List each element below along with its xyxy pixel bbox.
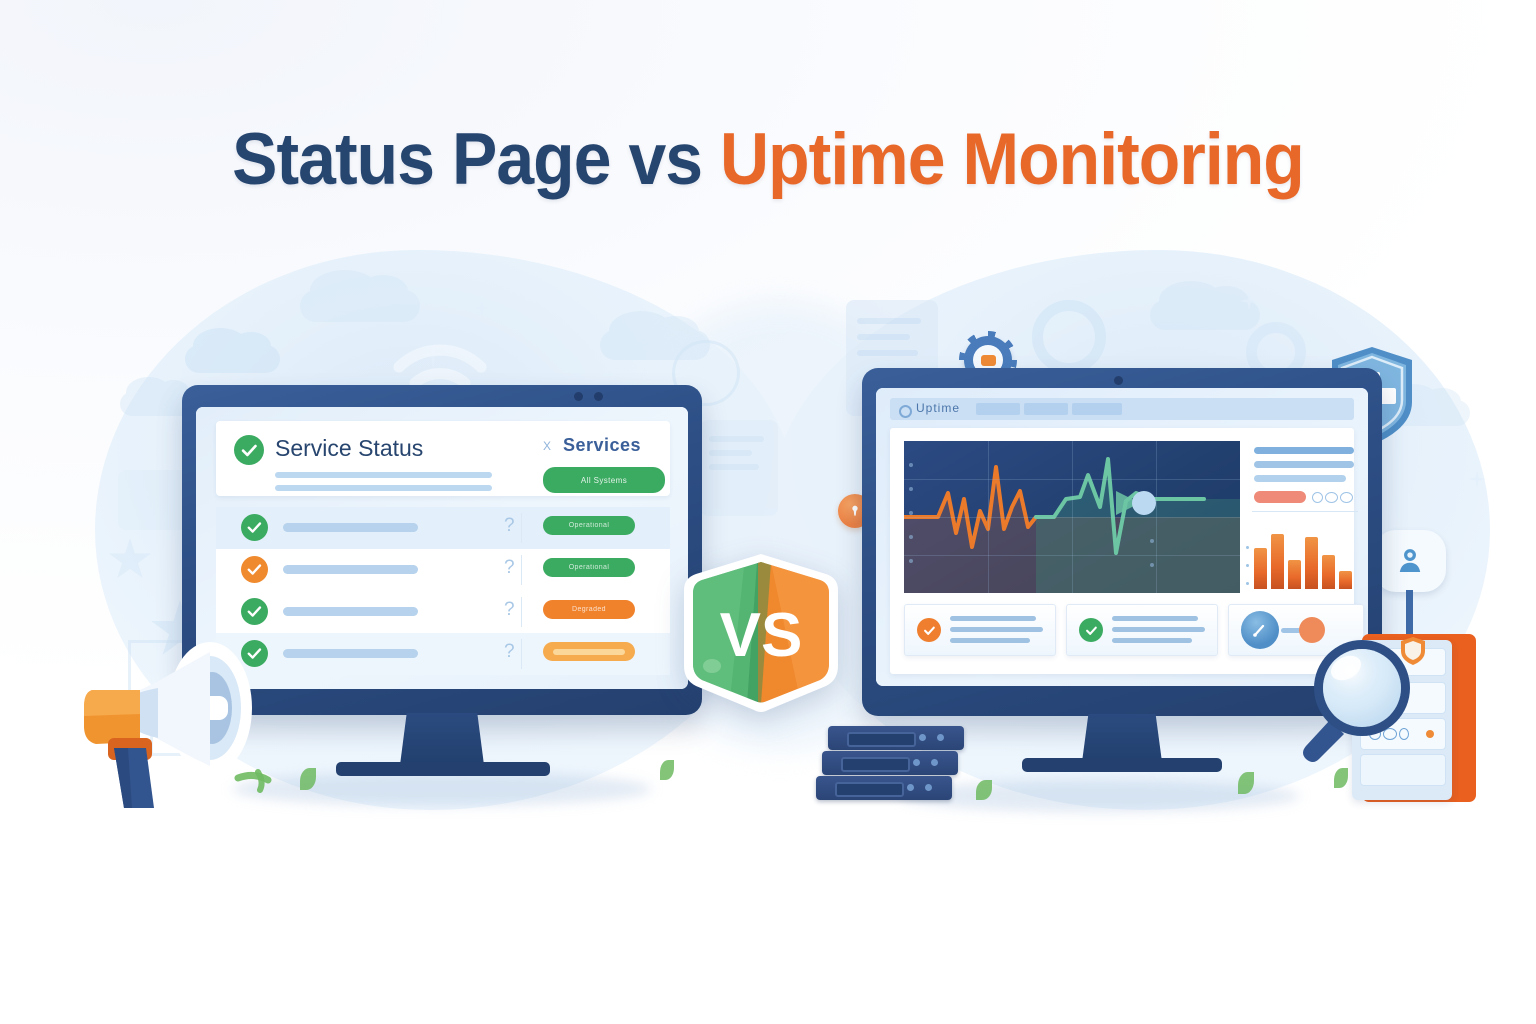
overall-status-pill[interactable]: All Systems (543, 467, 665, 493)
sidebar-line (1254, 461, 1354, 468)
row-status-pill-label: Degraded (572, 606, 606, 613)
table-row[interactable]: ? Degraded (216, 591, 670, 633)
speedometer-icon (1241, 611, 1279, 649)
vs-label: VS (720, 601, 803, 670)
server-unit (822, 751, 958, 775)
bar (1271, 534, 1284, 589)
vs-shield-shape: VS (676, 548, 846, 718)
server-slot (841, 757, 910, 772)
row-divider (521, 555, 522, 585)
sidebar-dot (1312, 492, 1323, 503)
dashboard-sidebar (1250, 441, 1362, 593)
server-rack-icon (812, 726, 972, 806)
header-line (275, 472, 492, 478)
uptime-chart[interactable] (904, 441, 1240, 593)
monitor-camera (594, 392, 603, 401)
card-line (950, 627, 1043, 632)
user-badge-icon (1374, 530, 1446, 592)
server-unit (828, 726, 964, 750)
bar (1254, 548, 1267, 589)
service-status-header-card: Service Status X Services All Systems (216, 421, 670, 496)
toolbar-chip[interactable] (1072, 403, 1122, 415)
megaphone-icon (62, 630, 298, 812)
server-slot (835, 782, 904, 797)
check-circle-icon (241, 556, 268, 583)
toolbar-title: Uptime (916, 401, 960, 415)
magnifier-icon (1292, 622, 1422, 762)
header-line (275, 485, 492, 491)
sidebar-dot (1340, 492, 1353, 503)
sidebar-dot (1325, 492, 1338, 503)
gear-icon (1032, 300, 1106, 374)
cloud-icon (185, 345, 280, 373)
cloud-icon (300, 290, 420, 322)
overall-status-pill-label: All Systems (581, 476, 627, 485)
vs-shield-badge: VS (676, 548, 846, 718)
row-indicator: ? (504, 599, 515, 621)
title-part-navy: Status Page vs (232, 119, 720, 200)
chart-gridline (904, 517, 1240, 518)
clipboard-status-dot (1426, 730, 1434, 738)
brand-prefix-label: X (543, 439, 552, 453)
dashboard-toolbar[interactable]: Uptime (890, 398, 1354, 420)
row-divider (521, 639, 522, 669)
sidebar-line (1254, 475, 1346, 482)
card-line (1112, 616, 1198, 621)
row-indicator: ? (504, 641, 515, 663)
monitor-camera (1114, 376, 1123, 385)
row-status-pill-label: Operational (569, 522, 610, 529)
server-slot (847, 732, 916, 747)
bar (1305, 537, 1318, 589)
card-line (950, 616, 1036, 621)
grass-decor (1334, 768, 1348, 788)
monitor-stand-neck (1082, 714, 1162, 762)
cloud-icon (1150, 300, 1260, 330)
row-label-bar (283, 649, 418, 658)
bar (1322, 555, 1335, 589)
monitor-camera (574, 392, 583, 401)
server-led (907, 784, 914, 791)
server-led (913, 759, 920, 766)
illustration-canvas: Service Status X Services All Systems ? (0, 0, 1536, 1024)
card-line (1112, 638, 1192, 643)
metric-card[interactable] (904, 604, 1056, 656)
toolbar-chip[interactable] (1024, 403, 1068, 415)
card-line (950, 638, 1030, 643)
row-divider (521, 597, 522, 627)
check-circle-icon (241, 598, 268, 625)
row-status-pill[interactable]: Operational (543, 516, 635, 535)
row-indicator: ? (504, 557, 515, 579)
row-status-pill[interactable] (543, 642, 635, 661)
row-label-bar (283, 565, 418, 574)
chart-gridline (904, 555, 1240, 556)
bar-axis-dot (1246, 564, 1249, 567)
grass-decor (660, 760, 674, 780)
server-led (937, 734, 944, 741)
brand-label: Services (563, 435, 641, 456)
check-circle-icon (1079, 618, 1103, 642)
row-divider (521, 513, 522, 543)
page-title: Status Page vs Uptime Monitoring (54, 118, 1482, 201)
sidebar-alert-pill[interactable] (1254, 491, 1306, 503)
chart-gridline (904, 479, 1240, 480)
card-line (1112, 627, 1205, 632)
bar-axis-dot (1246, 582, 1249, 585)
title-part-orange: Uptime Monitoring (720, 119, 1304, 200)
toolbar-chip[interactable] (976, 403, 1020, 415)
table-row[interactable]: ? Operational (216, 507, 670, 549)
row-status-pill[interactable]: Operational (543, 558, 635, 577)
bar (1288, 560, 1301, 589)
row-label-bar (283, 607, 418, 616)
check-circle-icon (917, 618, 941, 642)
sidebar-line (1254, 447, 1354, 454)
document-decor (118, 470, 188, 530)
sidebar-bar-chart (1252, 519, 1360, 589)
server-unit (816, 776, 952, 800)
monitor-stand-base (1022, 758, 1222, 772)
server-led (931, 759, 938, 766)
row-status-pill[interactable]: Degraded (543, 600, 635, 619)
row-progress-inner (553, 649, 625, 655)
server-led (919, 734, 926, 741)
check-circle-icon (241, 514, 268, 541)
document-decor (700, 420, 778, 516)
row-indicator: ? (504, 515, 515, 537)
bar-axis-dot (1246, 546, 1249, 549)
row-status-pill-label: Operational (569, 564, 610, 571)
server-led (925, 784, 932, 791)
monitor-stand-neck (400, 713, 484, 765)
check-circle-icon (234, 435, 264, 465)
sidebar-divider (1252, 511, 1358, 512)
service-status-heading: Service Status (275, 435, 423, 462)
table-row[interactable]: ? Operational (216, 549, 670, 591)
monitor-stand-base (336, 762, 550, 776)
toolbar-status-dot (899, 405, 912, 418)
row-label-bar (283, 523, 418, 532)
metric-card[interactable] (1066, 604, 1218, 656)
bar (1339, 571, 1352, 589)
